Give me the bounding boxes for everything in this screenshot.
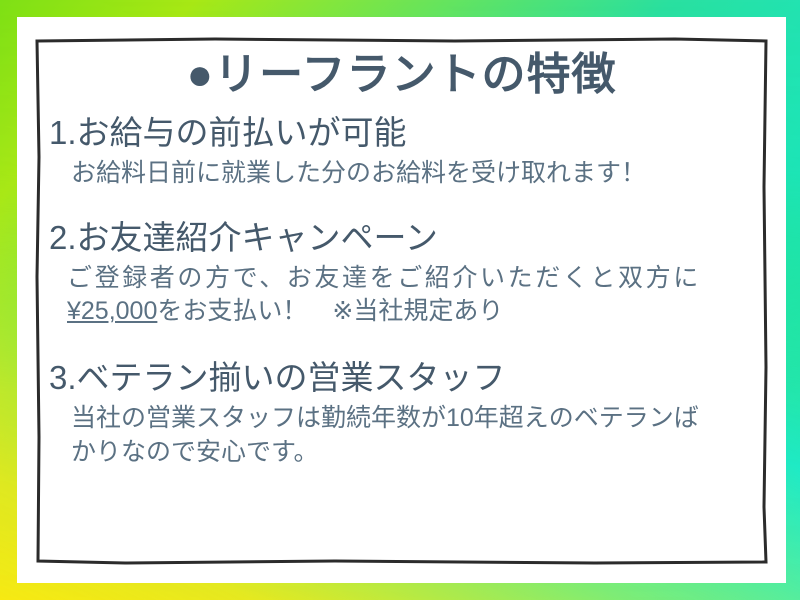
- slide-root: ●リーフラントの特徴 1.お給与の前払いが可能 お給料日前に就業した分のお給料を…: [0, 0, 800, 600]
- feature-body-3: 当社の営業スタッフは勤続年数が10年超えのベテランば かりなので安心です。: [35, 398, 768, 470]
- page-title: ●リーフラントの特徴: [35, 37, 768, 97]
- feature-heading-3: 3.ベテラン揃いの営業スタッフ: [35, 359, 768, 398]
- feature-body-3-line1: 当社の営業スタッフは勤続年数が10年超えのベテランば: [71, 402, 768, 436]
- feature-body-1: お給料日前に就業した分のお給料を受け取れます！: [35, 153, 768, 191]
- slide-content: ●リーフラントの特徴 1.お給与の前払いが可能 お給料日前に就業した分のお給料を…: [35, 37, 768, 565]
- list-item: 1.お給与の前払いが可能 お給料日前に就業した分のお給料を受け取れます！: [35, 114, 768, 191]
- feature-list: 1.お給与の前払いが可能 お給料日前に就業した分のお給料を受け取れます！ 2.お…: [35, 114, 768, 470]
- list-item: 2.お友達紹介キャンペーン ご登録者の方で、お友達をご紹介いただくと双方に ¥2…: [35, 219, 768, 329]
- feature-body-2-line2: ¥25,000をお支払い！ ※当社規定あり: [67, 295, 768, 329]
- feature-heading-1: 1.お給与の前払いが可能: [35, 114, 768, 153]
- feature-body-2-line1: ご登録者の方で、お友達をご紹介いただくと双方に: [67, 262, 768, 296]
- feature-body-3-line2: かりなので安心です。: [71, 436, 768, 470]
- feature-body-2: ご登録者の方で、お友達をご紹介いただくと双方に ¥25,000をお支払い！ ※当…: [35, 258, 768, 330]
- feature-heading-2: 2.お友達紹介キャンペーン: [35, 219, 768, 258]
- list-item: 3.ベテラン揃いの営業スタッフ 当社の営業スタッフは勤続年数が10年超えのベテラ…: [35, 359, 768, 469]
- referral-amount-suffix: をお支払い！ ※当社規定あり: [157, 297, 503, 325]
- referral-amount: ¥25,000: [67, 297, 157, 325]
